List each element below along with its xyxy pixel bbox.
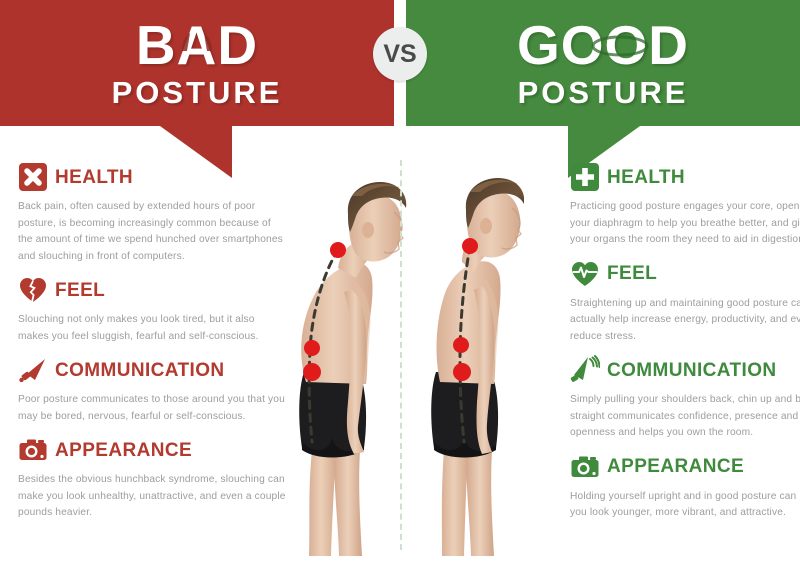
section-communication-bad: COMMUNICATION Poor posture communicates … [18,353,286,425]
vertical-dashed-divider [400,160,402,550]
section-communication-good: COMMUNICATION Simply pulling your should… [570,353,800,442]
section-body: Poor posture communicates to those aroun… [18,392,286,425]
bad-posture-column: HEALTH Back pain, often caused by extend… [18,160,286,530]
section-title: COMMUNICATION [607,361,777,380]
posture-marker-dot [453,337,469,353]
section-header: APPEARANCE [570,450,800,484]
upright-posture-figure [431,178,524,556]
section-header: FEEL [570,257,800,291]
section-title: HEALTH [607,168,685,187]
camera-icon [570,452,600,482]
bad-title-sub: POSTURE [112,77,283,108]
section-body: Besides the obvious hunchback syndrome, … [18,472,286,522]
posture-marker-dot [303,363,321,381]
section-feel-good: FEEL Straightening up and maintaining go… [570,257,800,346]
section-health-good: HEALTH Practicing good posture engages y… [570,160,800,249]
section-health-bad: HEALTH Back pain, often caused by extend… [18,160,286,265]
posture-marker-dot [453,363,471,381]
devil-horns-icon [162,5,232,23]
section-feel-bad: FEEL Slouching not only makes you look t… [18,273,286,345]
section-header: HEALTH [570,160,800,194]
section-title: FEEL [55,281,105,300]
halo-icon [589,12,651,36]
section-header: APPEARANCE [18,433,286,467]
section-title: HEALTH [55,168,133,187]
bad-title-main: BAD [136,18,258,73]
bad-posture-banner: BAD POSTURE [0,0,394,126]
megaphone-up-icon [570,355,600,385]
megaphone-down-icon [18,355,48,385]
section-title: FEEL [607,264,657,283]
section-body: Straightening up and maintaining good po… [570,296,800,346]
good-title-main: GOOD [517,18,689,73]
broken-heart-icon [18,275,48,305]
section-header: FEEL [18,273,286,307]
vs-badge: VS [373,27,427,81]
section-header: COMMUNICATION [18,353,286,387]
posture-marker-dot [330,242,346,258]
section-body: Practicing good posture engages your cor… [570,199,800,249]
section-header: COMMUNICATION [570,353,800,387]
section-title: APPEARANCE [607,457,744,476]
good-posture-banner: GOOD POSTURE [406,0,800,126]
section-appearance-bad: APPEARANCE Besides the obvious hunchback… [18,433,286,522]
x-mark-icon [18,162,48,192]
heart-pulse-icon [570,259,600,289]
section-body: Holding yourself upright and in good pos… [570,489,800,522]
posture-marker-dot [304,340,320,356]
section-header: HEALTH [18,160,286,194]
section-body: Slouching not only makes you look tired,… [18,312,286,345]
good-title-sub: POSTURE [518,77,689,108]
section-body: Simply pulling your shoulders back, chin… [570,392,800,442]
good-posture-column: HEALTH Practicing good posture engages y… [570,160,800,530]
posture-infographic: BAD POSTURE GOOD POSTURE VS [0,0,800,556]
medical-cross-icon [570,162,600,192]
camera-icon [18,435,48,465]
section-title: APPEARANCE [55,441,192,460]
section-title: COMMUNICATION [55,361,225,380]
posture-marker-dot [462,238,478,254]
good-banner-text: GOOD POSTURE [406,0,800,126]
bad-banner-text: BAD POSTURE [0,0,394,126]
section-appearance-good: APPEARANCE Holding yourself upright and … [570,450,800,522]
section-body: Back pain, often caused by extended hour… [18,199,286,265]
